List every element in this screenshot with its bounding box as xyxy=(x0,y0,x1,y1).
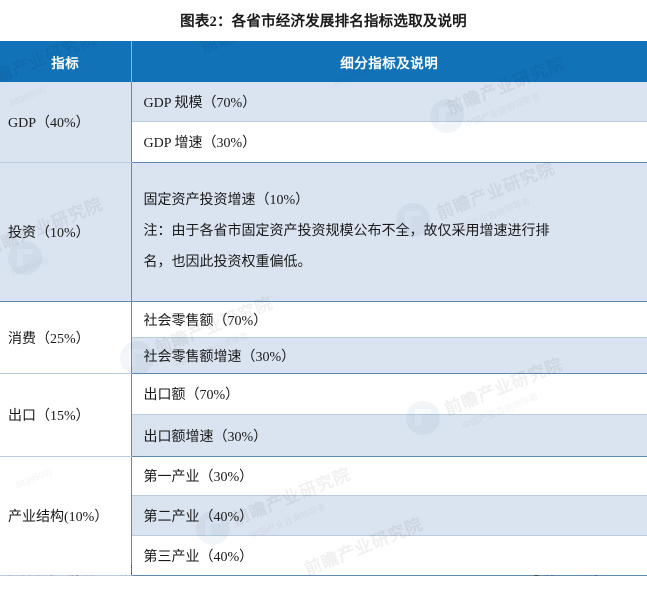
indicator-table: 指标 细分指标及说明 GDP（40%） GDP 规模（70%） GDP 增速（3… xyxy=(0,41,647,576)
table-row: 产业结构(10%） 第一产业（30%） xyxy=(0,457,647,496)
detail-cell: 社会零售额增速（30%） xyxy=(131,338,647,374)
detail-cell-investment-note: 固定资产投资增速（10%） 注：由于各省市固定资产投资规模公布不全，故仅采用增速… xyxy=(131,163,647,302)
detail-cell: 第二产业（40%） xyxy=(131,496,647,536)
detail-cell: GDP 增速（30%） xyxy=(131,122,647,163)
detail-cell: 出口额（70%） xyxy=(131,374,647,415)
table-row: 投资（10%） 固定资产投资增速（10%） 注：由于各省市固定资产投资规模公布不… xyxy=(0,163,647,302)
table-header: 指标 细分指标及说明 xyxy=(0,41,647,82)
category-cell-export: 出口（15%） xyxy=(0,374,131,457)
category-cell-industrial-structure: 产业结构(10%） xyxy=(0,457,131,576)
column-header-detail: 细分指标及说明 xyxy=(131,41,647,82)
category-cell-investment: 投资（10%） xyxy=(0,163,131,302)
note-line-1: 固定资产投资增速（10%） xyxy=(144,185,647,216)
detail-cell: 第三产业（40%） xyxy=(131,536,647,576)
table-row: 消费（25%） 社会零售额（70%） xyxy=(0,302,647,338)
table-body: GDP（40%） GDP 规模（70%） GDP 增速（30%） 投资（10%）… xyxy=(0,82,647,576)
indicator-table-wrap: 指标 细分指标及说明 GDP（40%） GDP 规模（70%） GDP 增速（3… xyxy=(0,41,647,576)
detail-cell: 第一产业（30%） xyxy=(131,457,647,496)
detail-cell: 出口额增速（30%） xyxy=(131,415,647,457)
detail-cell: 社会零售额（70%） xyxy=(131,302,647,338)
note-line-3: 名，也因此投资权重偏低。 xyxy=(144,247,647,278)
column-header-indicator: 指标 xyxy=(0,41,131,82)
table-row: 出口（15%） 出口额（70%） xyxy=(0,374,647,415)
table-header-row: 指标 细分指标及说明 xyxy=(0,41,647,82)
table-row: GDP（40%） GDP 规模（70%） xyxy=(0,82,647,122)
category-cell-gdp: GDP（40%） xyxy=(0,82,131,163)
category-cell-consumption: 消费（25%） xyxy=(0,302,131,374)
note-line-2: 注：由于各省市固定资产投资规模公布不全，故仅采用增速进行排 xyxy=(144,216,647,247)
page-title: 图表2：各省市经济发展排名指标选取及说明 xyxy=(0,0,647,33)
detail-cell: GDP 规模（70%） xyxy=(131,82,647,122)
